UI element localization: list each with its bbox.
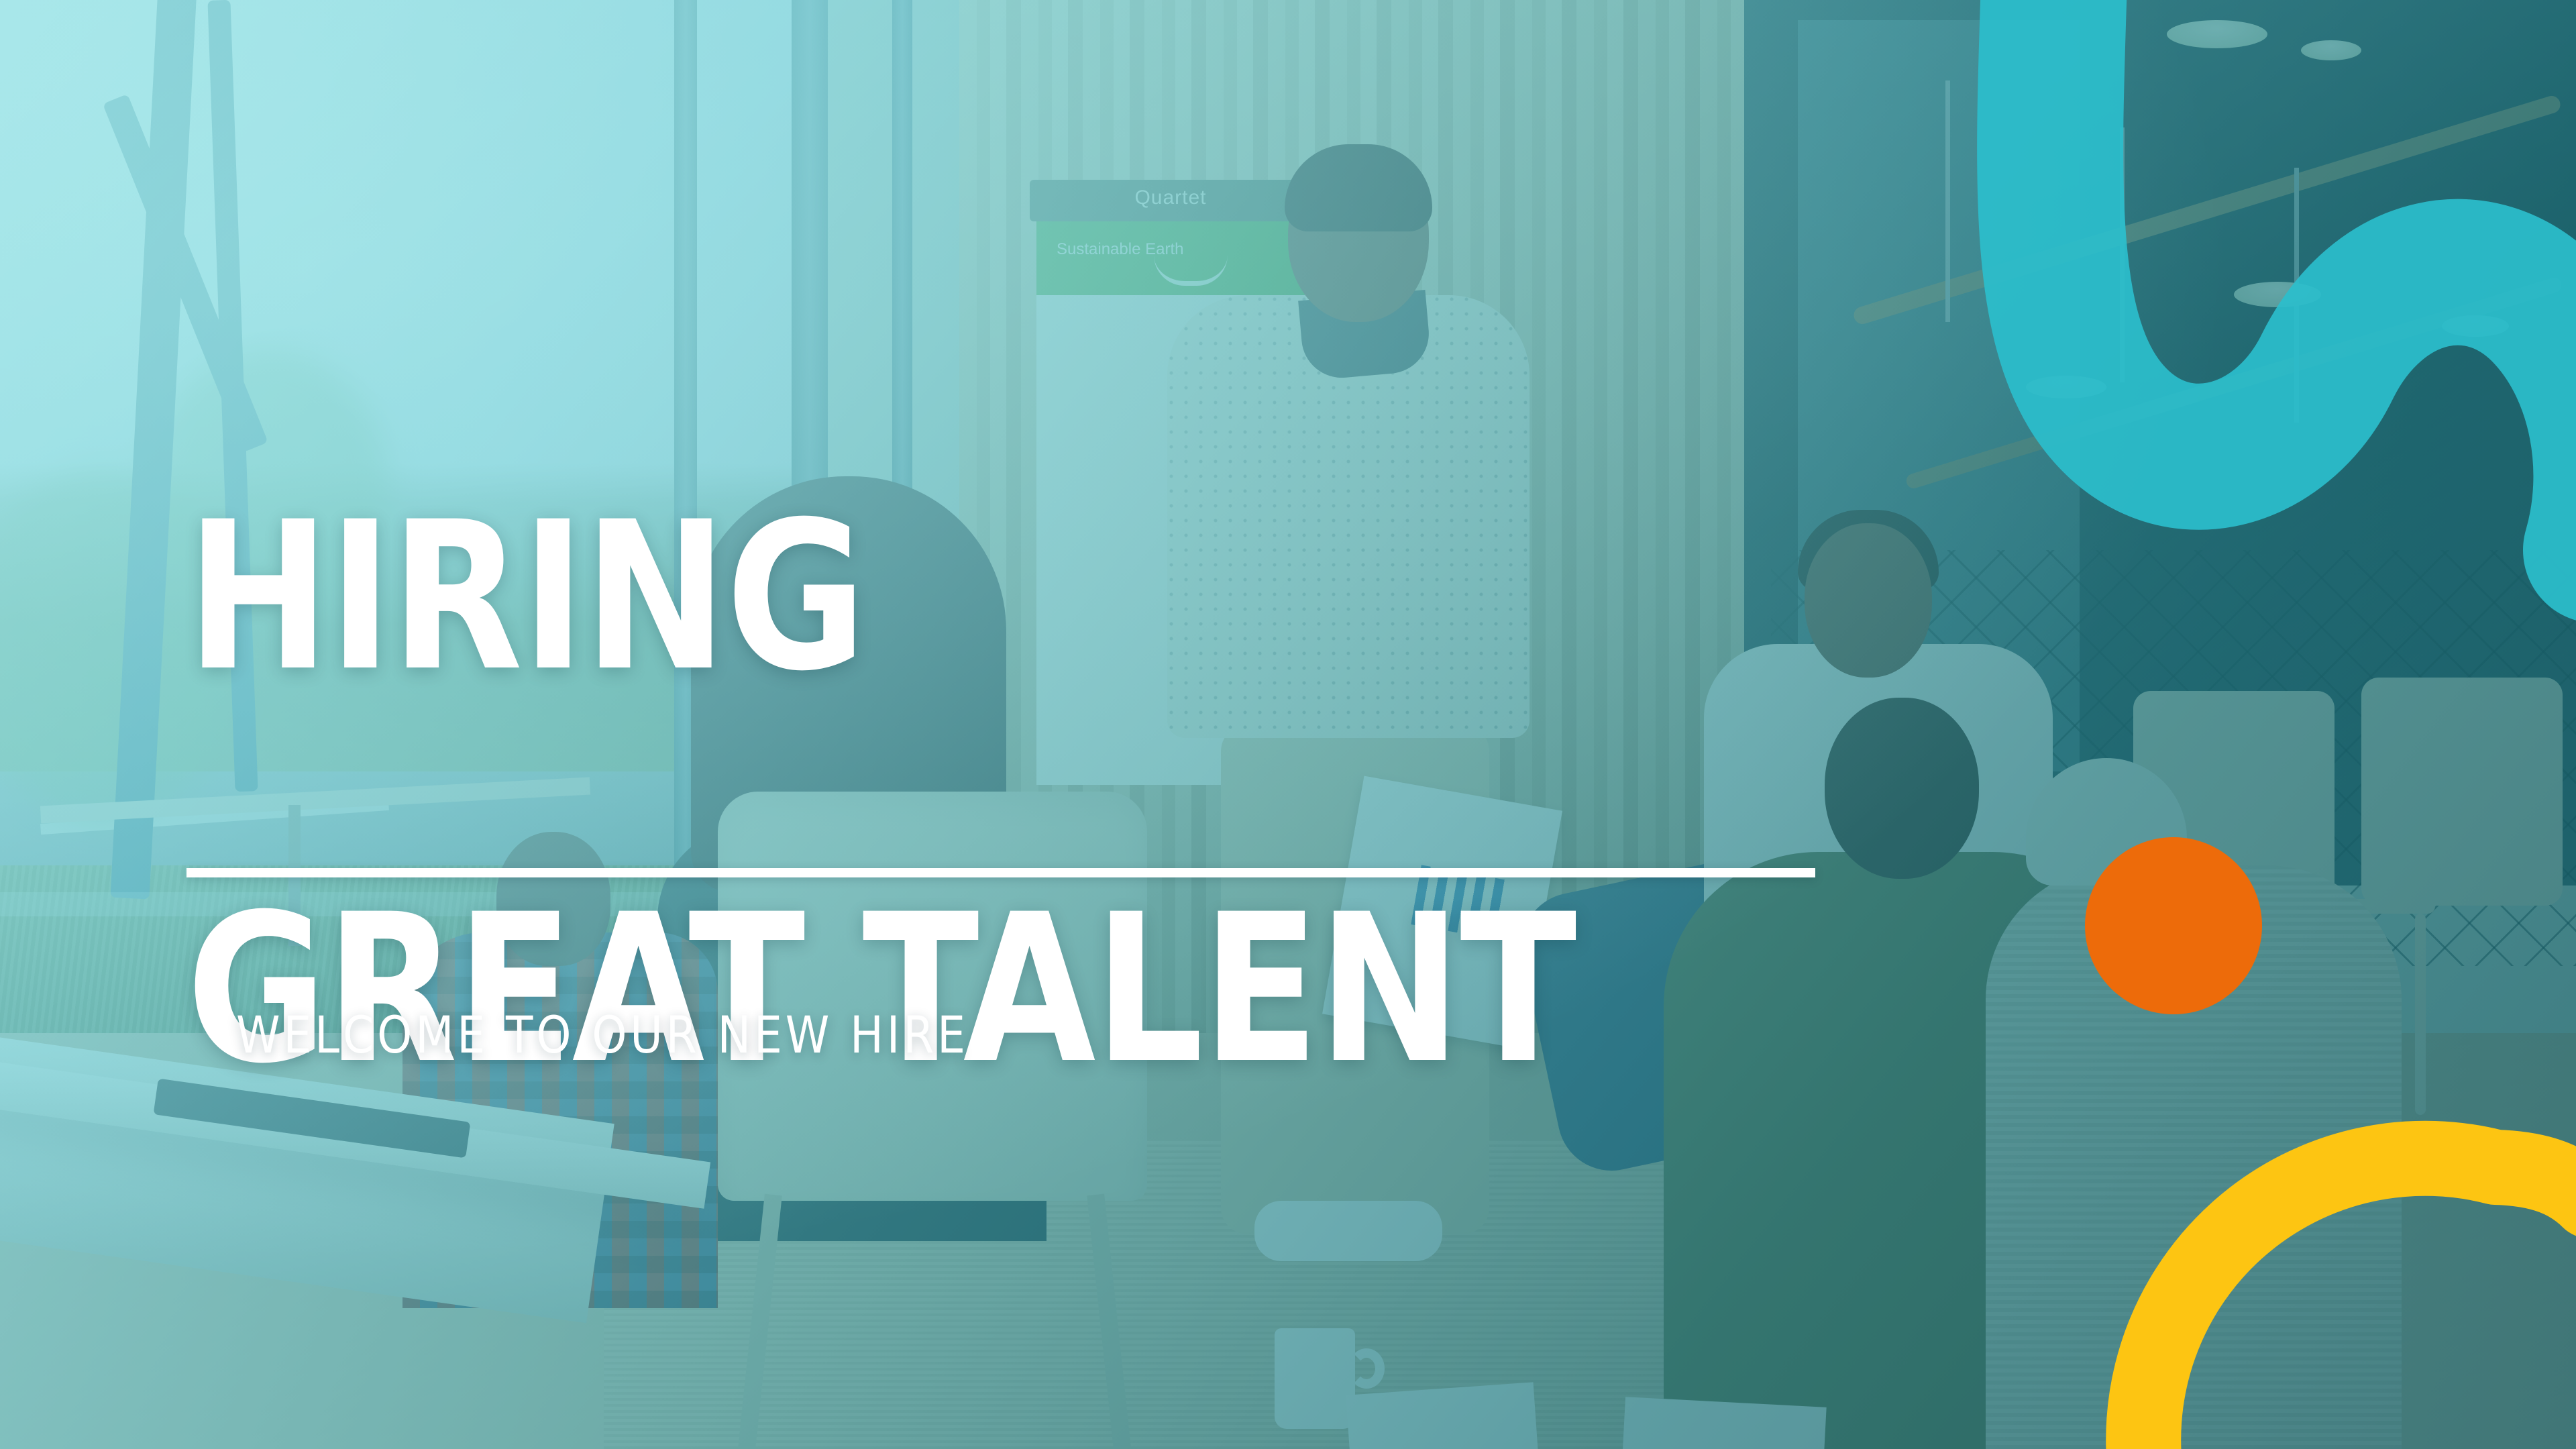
banner-content: HIRING GREAT TALENT WELCOME TO OUR NEW H… bbox=[0, 0, 2576, 1449]
subtitle: WELCOME TO OUR NEW HIRE bbox=[236, 1005, 969, 1065]
hiring-banner: Quartet Sustainable Earth bbox=[0, 0, 2576, 1449]
page-title: HIRING GREAT TALENT bbox=[186, 305, 1576, 1281]
headline-line-1: HIRING bbox=[186, 500, 1576, 694]
title-divider-rule bbox=[186, 868, 1815, 877]
